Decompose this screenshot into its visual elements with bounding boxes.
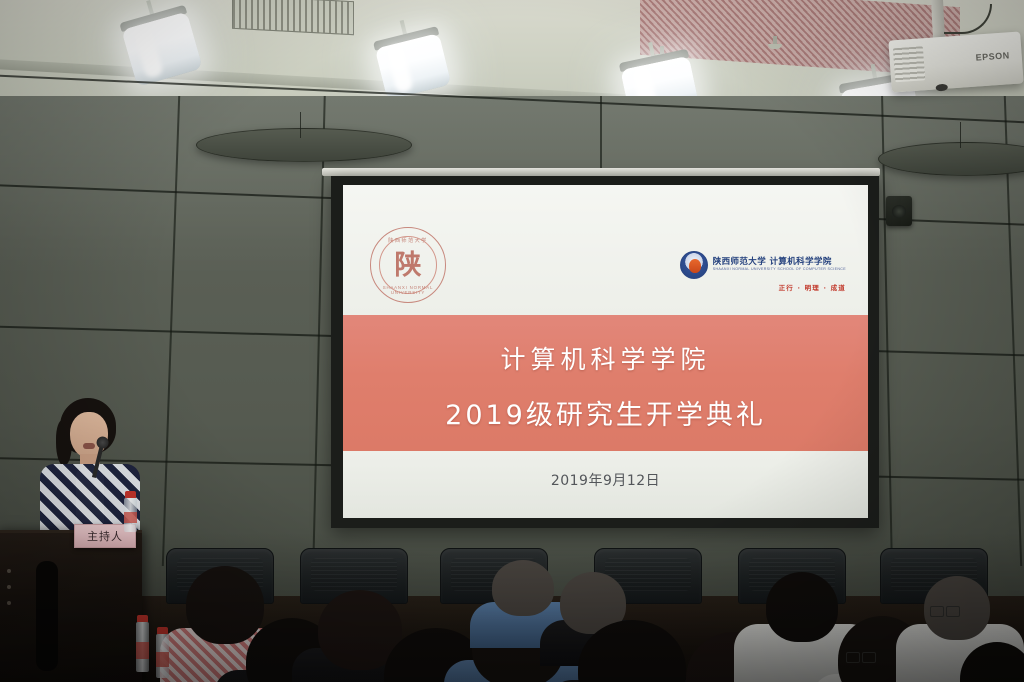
audience-member-1-head <box>186 566 264 644</box>
bottle-cap <box>137 615 148 622</box>
seal-arc-top-text: 陕西师范大学 <box>371 237 445 244</box>
university-seal-icon: 陕西师范大学 陕 SHAANXI NORMAL UNIVERSITY <box>370 227 446 303</box>
seal-center-character: 陕 <box>395 252 422 279</box>
bottle-label <box>124 512 137 524</box>
slide-date: 2019年9月12日 <box>343 470 868 490</box>
presenter-mouth <box>83 443 95 449</box>
audience <box>0 520 1024 682</box>
water-bottle-podium <box>124 498 137 532</box>
wall-speaker <box>886 196 912 226</box>
eyeglasses-2-icon <box>846 652 876 661</box>
audience-member-10-head <box>766 572 838 642</box>
audience-member-6-head <box>492 560 554 616</box>
baffle-wire <box>960 122 961 148</box>
projection-screen: 陕西师范大学 陕 SHAANXI NORMAL UNIVERSITY 陕西师范大… <box>331 176 879 528</box>
water-bottle-2 <box>156 634 169 678</box>
projector-vent-icon <box>893 46 925 82</box>
bottle-cap <box>157 627 168 634</box>
college-logo: 陕西师范大学 计算机科学学院 SHAANXI NORMAL UNIVERSITY… <box>680 251 846 292</box>
college-name-en: SHAANXI NORMAL UNIVERSITY SCHOOL OF COMP… <box>713 268 846 272</box>
baffle-wire <box>300 112 301 138</box>
college-name-block: 陕西师范大学 计算机科学学院 SHAANXI NORMAL UNIVERSITY… <box>713 258 846 272</box>
fire-sprinkler-icon <box>768 36 782 52</box>
acoustic-baffle-left <box>196 128 412 162</box>
college-logo-row: 陕西师范大学 计算机科学学院 SHAANXI NORMAL UNIVERSITY… <box>680 251 846 279</box>
bottle-label <box>136 642 149 659</box>
projector: EPSON <box>888 31 1023 92</box>
bottle-label <box>156 652 169 667</box>
bottle-cap <box>125 491 136 498</box>
air-vent-grille <box>232 0 354 35</box>
college-badge-icon <box>680 251 708 279</box>
slide-heading-line1: 计算机科学学院 <box>343 340 868 376</box>
slide-surface: 陕西师范大学 陕 SHAANXI NORMAL UNIVERSITY 陕西师范大… <box>343 185 868 518</box>
projector-brand-label: EPSON <box>975 50 1010 62</box>
eyeglasses-1-icon <box>930 606 960 615</box>
seal-arc-bottom-text: SHAANXI NORMAL UNIVERSITY <box>371 285 445 295</box>
water-bottle-1 <box>136 622 149 672</box>
college-motto: 正行 · 明理 · 成道 <box>779 282 846 292</box>
college-name-cn: 陕西师范大学 计算机科学学院 <box>713 258 846 267</box>
slide-heading-line2: 2019级研究生开学典礼 <box>343 393 868 432</box>
screen-housing <box>322 168 880 176</box>
lecture-hall-photo: EPSON 陕西师范大学 陕 SHAANXI NORMAL UNIVERSITY <box>0 0 1024 682</box>
